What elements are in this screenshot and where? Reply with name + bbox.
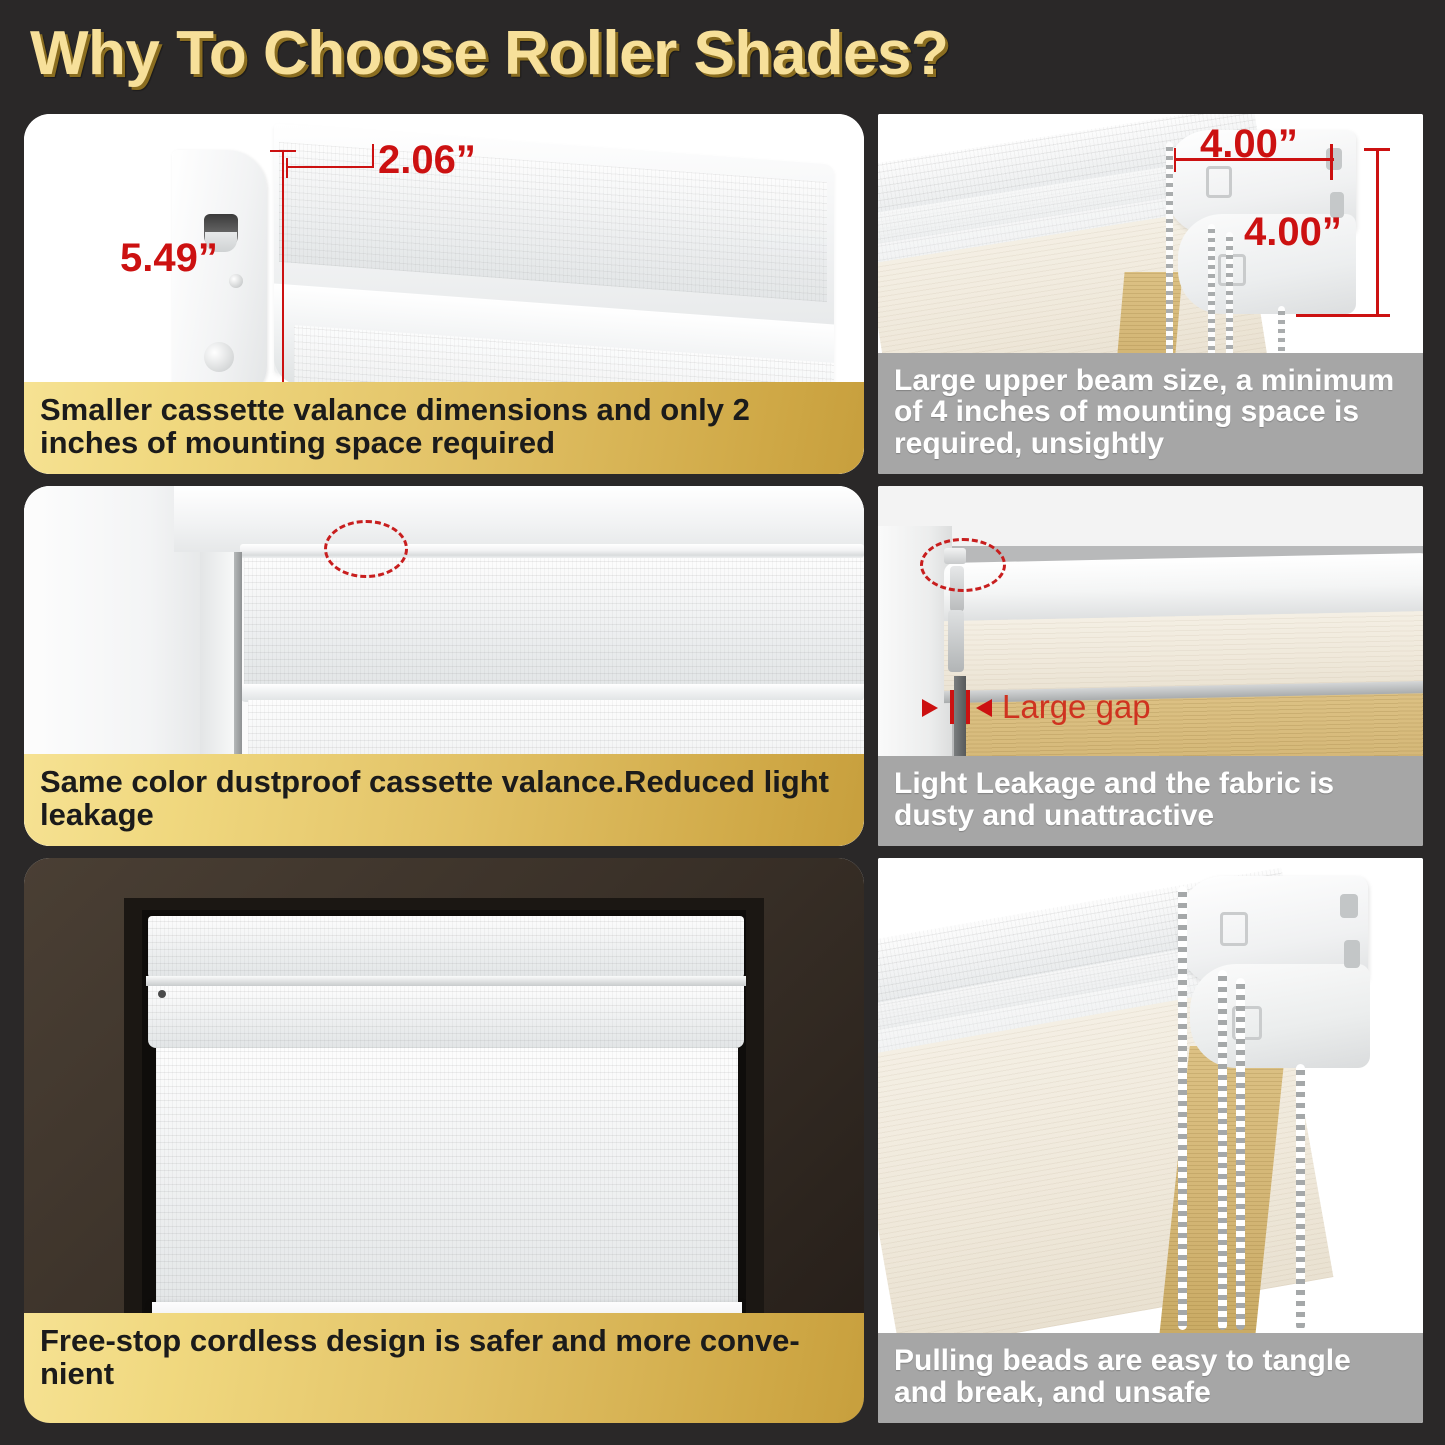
panel-2-caption: Large upper beam size, a minimum of 4 in…	[878, 353, 1423, 474]
large-gap-label: Large gap	[1002, 688, 1151, 726]
gap-arrow-left	[922, 699, 938, 717]
panel-cassette-dimensions: 5.49” 2.06” Smaller cassette valance dim…	[24, 114, 864, 474]
panel-3-caption: Same color dustproof cassette valance.Re…	[24, 754, 864, 846]
page-title: Why To Choose Roller Shades?	[30, 18, 948, 89]
panel-large-upper-beam: 4.00” 4.00” Large upper beam size, a min…	[878, 114, 1423, 474]
panel-cordless-design: Free-stop cordless design is safer and m…	[24, 858, 864, 1423]
bead-chain	[1236, 978, 1245, 1330]
gap-arrow-right	[976, 699, 992, 717]
width-dimension-label: 2.06”	[378, 138, 476, 183]
beam-width-dimension-label: 4.00”	[1200, 122, 1298, 167]
bead-chain	[1178, 886, 1187, 1330]
gap-highlight-circle	[920, 538, 1006, 592]
height-dimension-label: 5.49”	[120, 236, 218, 281]
panel-pulling-beads: Pulling beads are easy to tangle and bre…	[878, 858, 1423, 1423]
panel-large-gap: Large gap Light Leakage and the fabric i…	[878, 486, 1423, 846]
panel-1-caption: Smaller cassette valance dimensions and …	[24, 382, 864, 474]
bead-chain	[1218, 970, 1227, 1330]
panel-4-caption: Light Leakage and the fabric is dusty an…	[878, 756, 1423, 846]
beam-height-dimension-label: 4.00”	[1244, 210, 1342, 255]
gap-highlight-circle	[324, 520, 408, 578]
panel-5-caption: Free-stop cordless design is safer and m…	[24, 1313, 864, 1423]
panel-smaller-gap: smaller gap Same color dustproof cassett…	[24, 486, 864, 846]
title-bar: Why To Choose Roller Shades?	[0, 0, 1445, 110]
panel-6-caption: Pulling beads are easy to tangle and bre…	[878, 1333, 1423, 1423]
bead-chain	[1296, 1064, 1305, 1330]
